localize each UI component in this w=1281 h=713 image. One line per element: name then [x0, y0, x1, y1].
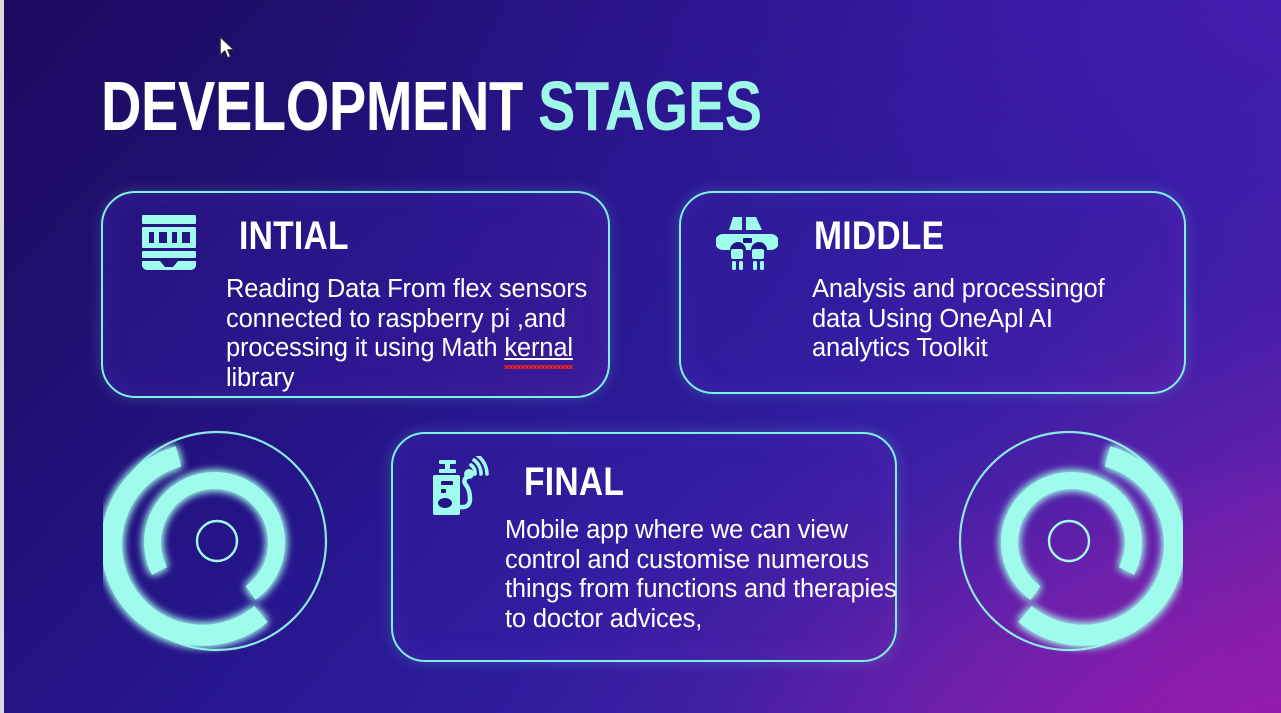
stage-card-middle-heading: MIDDLE [814, 215, 944, 257]
binary-data-screen-icon [138, 211, 200, 273]
circular-arc-logo-right [955, 427, 1183, 655]
stage-card-initial-body: Reading Data From flex sensors connected… [226, 275, 604, 393]
stage-card-middle-body: Analysis and processingof data Using One… [812, 275, 1142, 364]
page-title-accent: STAGES [538, 67, 762, 145]
slide-canvas: DEVELOPMENT STAGES [0, 0, 1281, 713]
mouse-pointer-arrow-icon [219, 36, 237, 62]
body-text-after: library [226, 364, 294, 392]
stage-card-initial[interactable]: INTIAL Reading Data From flex sensors co… [101, 191, 610, 398]
stage-card-initial-heading: INTIAL [239, 215, 349, 257]
misspelled-word: kernal [504, 334, 573, 362]
stage-card-middle[interactable]: MIDDLE Analysis and processingof data Us… [679, 191, 1186, 394]
stage-card-final-heading: FINAL [524, 461, 624, 503]
hover-car-icon [716, 211, 778, 273]
remote-control-signal-icon [428, 456, 494, 522]
circular-arc-logo-left [103, 427, 331, 655]
stage-card-final[interactable]: FINAL Mobile app where we can view contr… [391, 432, 897, 662]
window-left-edge [0, 0, 4, 713]
page-title-primary: DEVELOPMENT [101, 67, 523, 145]
page-title: DEVELOPMENT STAGES [101, 68, 762, 144]
stage-card-final-body: Mobile app where we can view control and… [505, 516, 897, 634]
